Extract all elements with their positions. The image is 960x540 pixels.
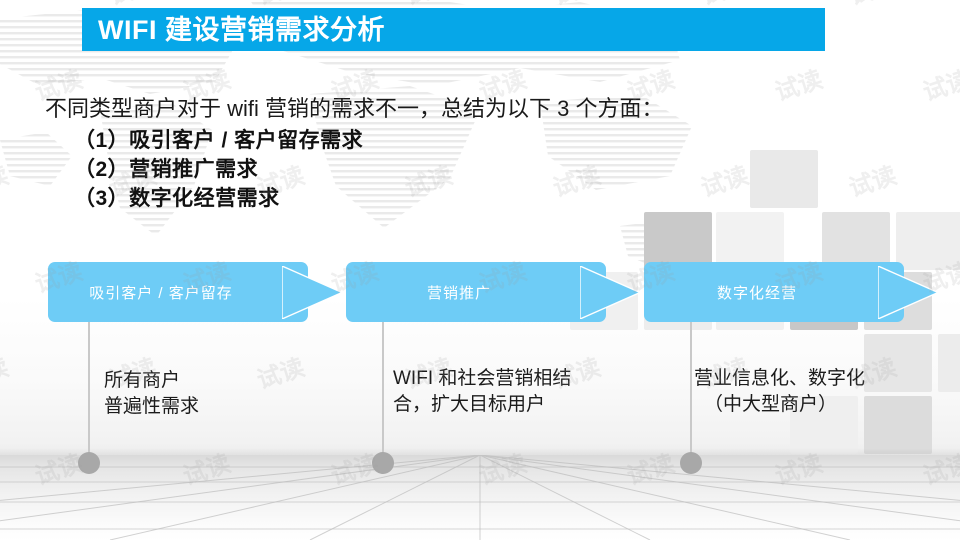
square-tile [864,396,932,454]
arrow-head-icon [282,266,342,319]
watermark-text: 试读 [622,443,678,491]
description-2-line-2: 合，扩大目标用户 [393,392,571,418]
watermark-text: 试读 [474,443,530,491]
bullet-item-1: （1）吸引客户 / 客户留存需求 [74,126,363,155]
watermark-text: 试读 [918,443,960,491]
floor-grid [0,455,960,540]
arrow-head-icon [878,266,938,319]
process-banner-1[interactable]: 吸引客户 / 客户留存 [48,262,308,322]
watermark-text: 试读 [30,443,86,491]
description-3-line-2: （中大型商户） [694,392,865,418]
watermark-text: 试读 [178,443,234,491]
watermark-text: 试读 [770,59,826,107]
watermark-text: 试读 [696,155,752,203]
description-3: 营业信息化、数字化 （中大型商户） [694,366,865,418]
title-bar: WIFI 建设营销需求分析 [82,8,825,51]
bullet-list: （1）吸引客户 / 客户留存需求 （2）营销推广需求 （3）数字化经营需求 [74,126,363,213]
square-tile [896,212,960,270]
connector-dot-1 [78,452,100,474]
square-tile [938,334,960,392]
bullet-item-3: （3）数字化经营需求 [74,184,363,213]
arrow-head-icon [580,266,640,319]
watermark-text: 试读 [0,155,12,203]
process-banner-1-label: 吸引客户 / 客户留存 [48,262,308,322]
watermark-text: 试读 [548,155,604,203]
watermark-text: 试读 [918,59,960,107]
connector-stem-3 [690,322,692,458]
wall-floor-shadow [0,448,960,458]
page-title: WIFI 建设营销需求分析 [98,12,385,48]
process-banner-3[interactable]: 数字化经营 [644,262,904,322]
watermark-text: 试读 [844,0,900,12]
description-3-line-1: 营业信息化、数字化 [694,366,865,392]
watermark-text: 试读 [770,443,826,491]
slide-canvas: WIFI 建设营销需求分析 不同类型商户对于 wifi 营销的需求不一，总结为以… [0,0,960,540]
square-tile [750,150,818,208]
description-2: WIFI 和社会营销相结 合，扩大目标用户 [393,366,571,418]
description-2-line-1: WIFI 和社会营销相结 [393,366,571,392]
connector-dot-3 [680,452,702,474]
description-1-line-1: 所有商户 [104,368,199,394]
perspective-floor [0,455,960,540]
watermark-text: 试读 [0,347,12,395]
process-banner-2[interactable]: 营销推广 [346,262,606,322]
connector-dot-2 [372,452,394,474]
connector-stem-1 [88,322,90,458]
connector-stem-2 [382,322,384,458]
watermark-text: 试读 [400,155,456,203]
intro-paragraph: 不同类型商户对于 wifi 营销的需求不一，总结为以下 3 个方面： [45,94,663,124]
bullet-item-2: （2）营销推广需求 [74,155,363,184]
watermark-text: 试读 [0,0,12,12]
process-banner-3-label: 数字化经营 [644,262,904,322]
description-1: 所有商户 普遍性需求 [104,368,199,420]
process-banner-2-label: 营销推广 [346,262,606,322]
watermark-text: 试读 [844,155,900,203]
description-1-line-2: 普遍性需求 [104,394,199,420]
square-tile [864,334,932,392]
watermark-text: 试读 [252,347,308,395]
